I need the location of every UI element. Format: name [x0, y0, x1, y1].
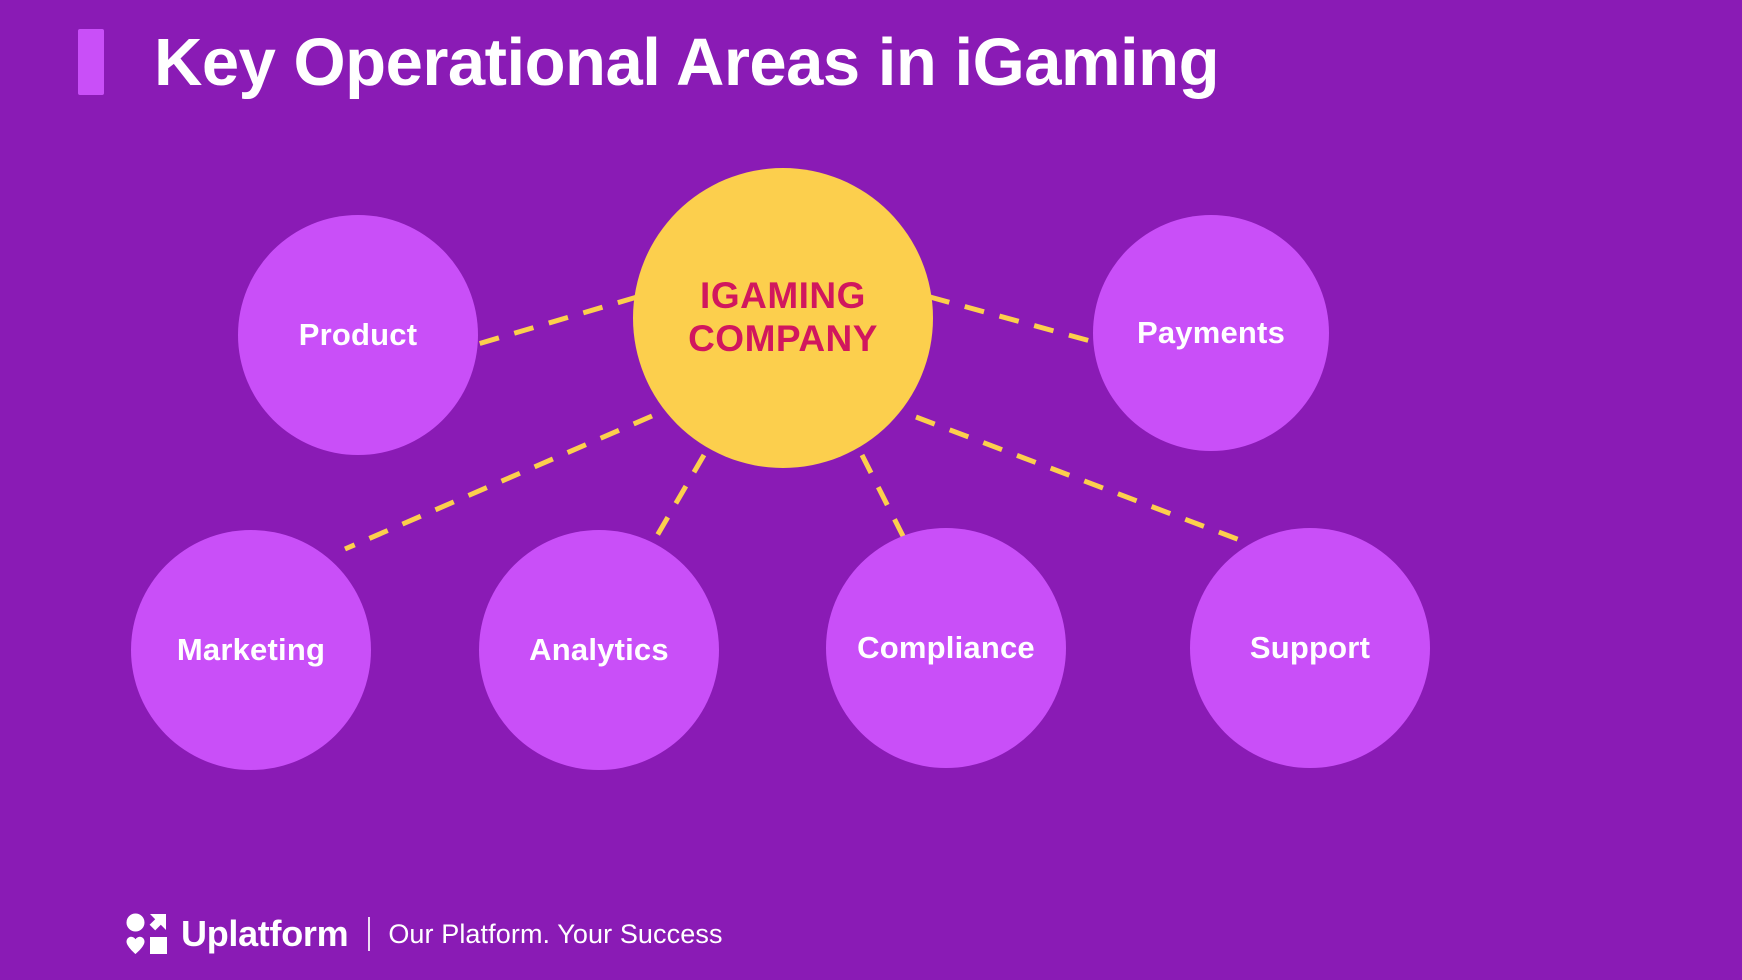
- hub-node-igaming-company[interactable]: IGAMING COMPANY: [633, 168, 933, 468]
- hub-node-label: IGAMING COMPANY: [688, 275, 878, 360]
- uplatform-logo-icon: [126, 913, 168, 955]
- connector-hub-to-payments: [930, 297, 1094, 342]
- node-support-label: Support: [1250, 631, 1370, 665]
- node-analytics[interactable]: Analytics: [479, 530, 719, 770]
- brand-tagline: Our Platform. Your Success: [388, 921, 722, 948]
- hub-and-spoke-diagram: IGAMING COMPANY Product Payments Marketi…: [0, 0, 1742, 980]
- node-marketing-label: Marketing: [177, 633, 325, 667]
- node-marketing[interactable]: Marketing: [131, 530, 371, 770]
- connector-hub-to-product: [478, 297, 637, 344]
- node-product[interactable]: Product: [238, 215, 478, 455]
- hub-node-label-line2: COMPANY: [688, 318, 878, 359]
- node-analytics-label: Analytics: [529, 633, 669, 667]
- node-product-label: Product: [299, 318, 418, 352]
- slide-root: Key Operational Areas in iGaming IGAMING…: [0, 0, 1742, 980]
- connector-hub-to-compliance: [862, 455, 905, 540]
- connector-lines: [0, 0, 1742, 980]
- hub-node-label-line1: IGAMING: [700, 275, 866, 316]
- node-payments-label: Payments: [1137, 316, 1285, 350]
- node-compliance[interactable]: Compliance: [826, 528, 1066, 768]
- node-compliance-label: Compliance: [857, 631, 1035, 665]
- brand-name: Uplatform: [181, 916, 348, 952]
- node-support[interactable]: Support: [1190, 528, 1430, 768]
- connector-hub-to-analytics: [654, 455, 704, 541]
- node-payments[interactable]: Payments: [1093, 215, 1329, 451]
- footer-brand: Uplatform Our Platform. Your Success: [126, 910, 723, 958]
- brand-divider: [368, 917, 370, 951]
